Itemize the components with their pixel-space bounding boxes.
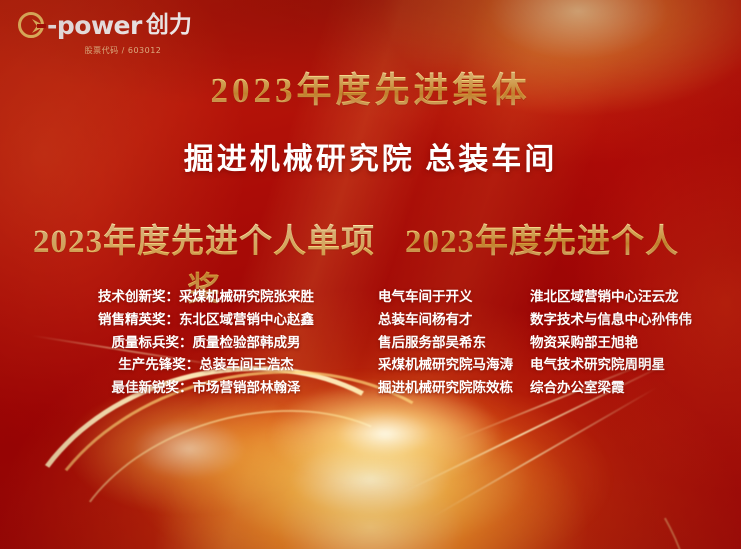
- list-item: 质量标兵奖：质量检验部韩成男: [56, 332, 356, 355]
- logo-wordmark: -power: [47, 13, 142, 38]
- list-item: 最佳新锐奖：市场营销部林翰泽: [56, 377, 356, 400]
- list-item: 采煤机械研究院马海涛 电气技术研究院周明星: [378, 354, 708, 377]
- awardee-name: 电气技术研究院周明星: [530, 354, 665, 377]
- awardee-name: 综合办公室梁霞: [530, 377, 625, 400]
- list-item: 销售精英奖：东北区域营销中心赵鑫: [56, 309, 356, 332]
- awardee-name: 物资采购部王旭艳: [530, 332, 638, 355]
- logo-wordmark-cn: 创力: [146, 14, 192, 37]
- award-list-individual-category: 技术创新奖：采煤机械研究院张来胜 销售精英奖：东北区域营销中心赵鑫 质量标兵奖：…: [56, 286, 356, 400]
- list-item: 售后服务部吴希东 物资采购部王旭艳: [378, 332, 708, 355]
- awardee-name: 总装车间杨有才: [378, 309, 530, 332]
- c-power-circle-arrow-icon: [18, 12, 44, 38]
- awardee-name: 淮北区域营销中心汪云龙: [530, 286, 679, 309]
- awardee-name: 采煤机械研究院马海涛: [378, 354, 530, 377]
- award-list-individual: 电气车间于开义 淮北区域营销中心汪云龙 总装车间杨有才 数字技术与信息中心孙伟伟…: [378, 286, 708, 400]
- stock-code-label: 股票代码 / 603012: [18, 45, 228, 56]
- award-poster: -power 创力 股票代码 / 603012 2023年度先进集体 掘进机械研…: [0, 0, 741, 549]
- section-heading-individual: 2023年度先进个人: [392, 214, 692, 262]
- awardee-name: 售后服务部吴希东: [378, 332, 530, 355]
- list-item: 电气车间于开义 淮北区域营销中心汪云龙: [378, 286, 708, 309]
- company-logo: -power 创力 股票代码 / 603012: [18, 12, 228, 56]
- page-subtitle: 掘进机械研究院 总装车间: [0, 134, 741, 178]
- awardee-name: 掘进机械研究院陈效栋: [378, 377, 530, 400]
- list-item: 生产先锋奖：总装车间王浩杰: [56, 354, 356, 377]
- awardee-name: 电气车间于开义: [378, 286, 530, 309]
- page-title: 2023年度先进集体: [0, 62, 741, 113]
- list-item: 总装车间杨有才 数字技术与信息中心孙伟伟: [378, 309, 708, 332]
- list-item: 技术创新奖：采煤机械研究院张来胜: [56, 286, 356, 309]
- awardee-name: 数字技术与信息中心孙伟伟: [530, 309, 692, 332]
- list-item: 掘进机械研究院陈效栋 综合办公室梁霞: [378, 377, 708, 400]
